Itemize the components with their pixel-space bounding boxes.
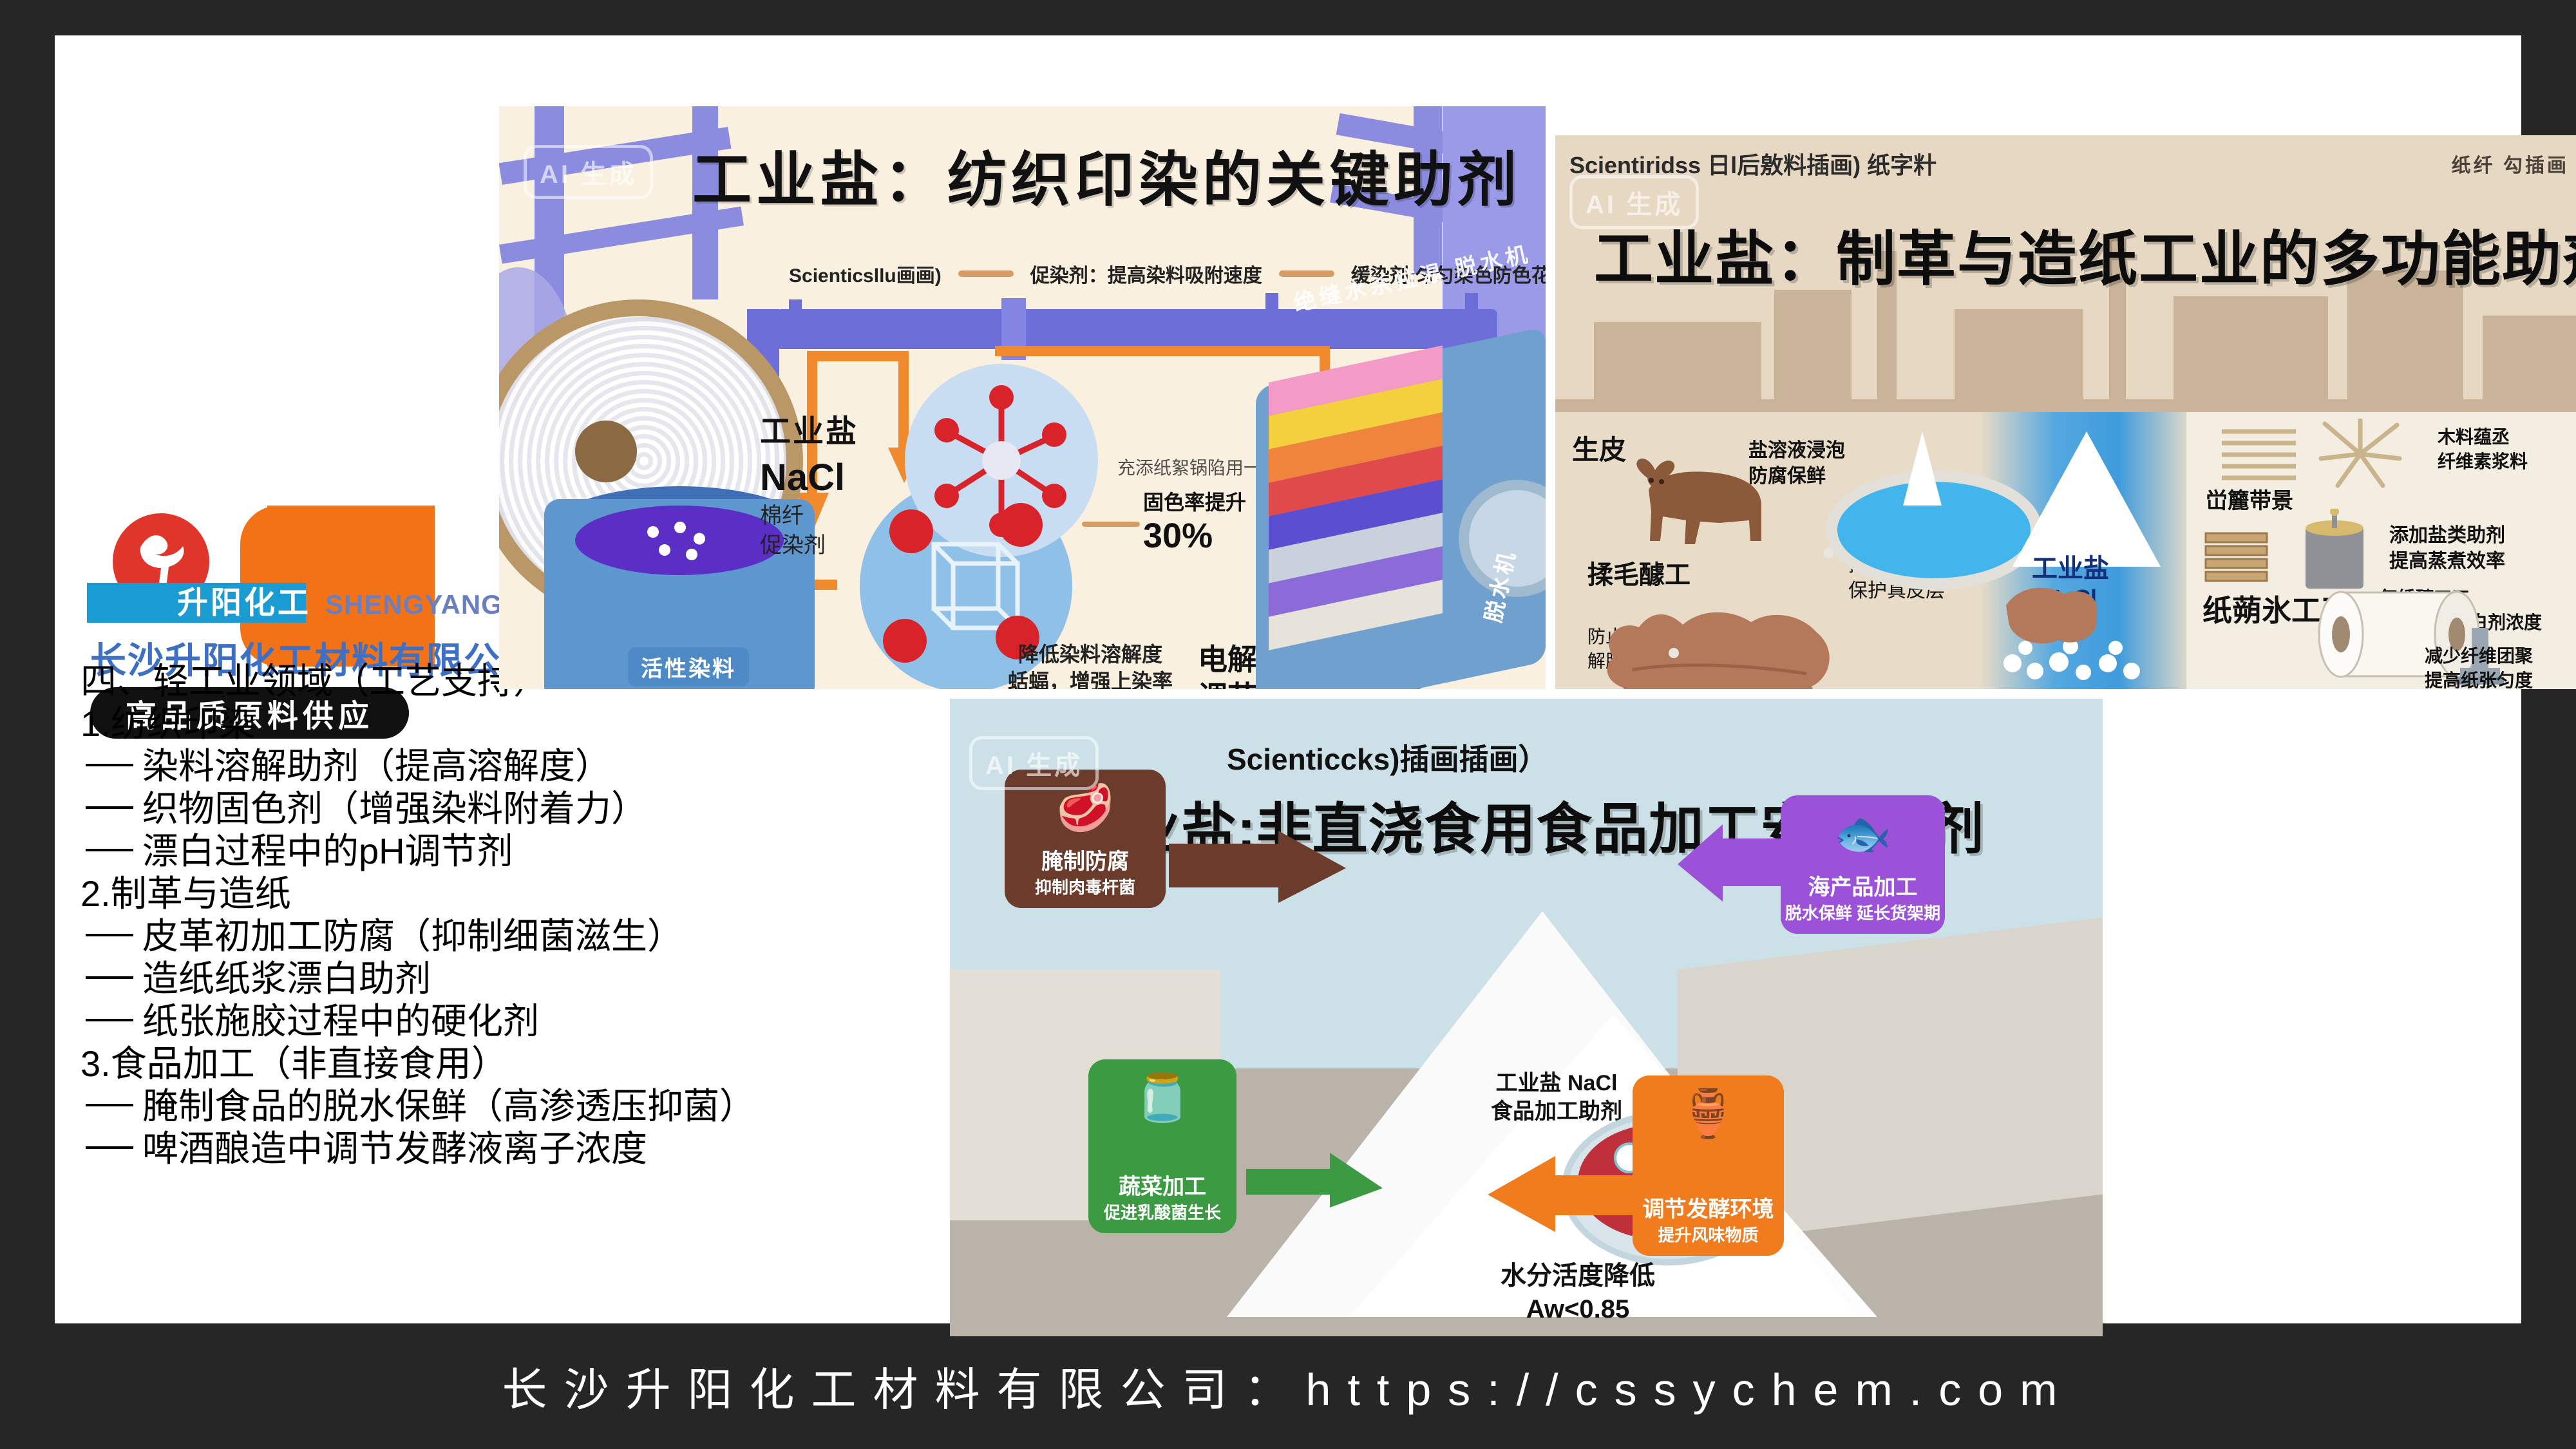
outline-item: 腌制食品的脱水保鲜（高渗透压抑菌） <box>80 1085 918 1128</box>
wood-chips-icon <box>2199 522 2277 586</box>
hotspot-dot-icon <box>1823 547 1834 559</box>
chip-sublabel: 抑制肉毒杆菌 <box>1035 877 1135 898</box>
pipe-leg <box>789 299 802 324</box>
pot-icon: 🏺 <box>1680 1091 1738 1137</box>
panel-leather-credit-right: 纸纤 勾插画 <box>2452 149 2569 178</box>
dash-icon <box>86 1104 133 1106</box>
dash-icon <box>86 1019 133 1021</box>
arrow-fermentation-to-salt-icon <box>1484 1130 1652 1253</box>
outline-list: 四、轻工业领域（工艺支持） 1.纺织印染 染料溶解助剂（提高溶解度） 织物固色剂… <box>80 660 918 1170</box>
dash-icon <box>86 764 133 766</box>
outline-item: 织物固色剂（增强染料附着力） <box>80 788 918 830</box>
ai-generated-badge: AI 生成 <box>969 736 1099 790</box>
salt-callout-cn: 工业盐 <box>760 406 858 451</box>
arrow-meat-to-salt-icon <box>1162 831 1356 940</box>
dissolution-callout: 降低染料溶解度 蛞蝠，增强上染率 <box>1008 641 1173 689</box>
logo-graphic: 升阳化工 SHENGYANG 长沙升阳化工材料有限公司 <box>74 506 435 676</box>
chip-label: 调节发酵环境 <box>1643 1197 1774 1222</box>
dyed-fabric-stack <box>1269 345 1443 689</box>
cellulose-fiber-icon <box>2318 419 2402 489</box>
outline-item: 染料溶解助剂（提高溶解度） <box>80 745 918 788</box>
salt-callout: 工业盐 NaCl 棉纤 促染剂 <box>760 406 858 558</box>
water-activity-label: 水分活度降低 Aw<0.85 <box>1501 1259 1655 1326</box>
page-root: 升阳化工 SHENGYANG 长沙升阳化工材料有限公司 高品质原料供应 四、轻工… <box>0 0 2576 1449</box>
dash-icon <box>86 1146 133 1149</box>
outline-section-1-title: 1.纺织印染 <box>80 703 918 745</box>
chip-label: 蔬菜加工 <box>1119 1174 1206 1200</box>
outline-section-3-title: 3.食品加工（非直接食用） <box>80 1043 918 1085</box>
chip-curing-preservation: 🥩 腌制防腐 抑制肉毒杆菌 <box>1005 770 1166 908</box>
pipe-leg <box>1265 293 1278 324</box>
hotspot-dot-icon <box>1668 647 1680 659</box>
chip-sublabel: 脱水保鲜 延长货架期 <box>1785 903 1940 923</box>
callout-leader-line <box>1082 522 1140 527</box>
outline-item: 纸张施胶过程中的硬化剂 <box>80 1000 918 1043</box>
flow-arrow-shaft <box>995 346 1330 356</box>
salt-callout-sub1: 棉纤 <box>760 503 858 529</box>
salt-callout-sub2: 促染剂 <box>760 533 858 558</box>
chip-fermentation: 🏺 调节发酵环境 提升风味物质 <box>1633 1075 1784 1256</box>
fixation-value: 30% <box>1143 516 1246 556</box>
panel-leather-title: 工业盐：制革与造纸工业的多功能助剂 <box>1594 211 2576 297</box>
chip-sublabel: 促进乳酸菌生长 <box>1104 1202 1221 1223</box>
fixation-label: 固色率提升 <box>1143 486 1246 516</box>
salt-pour-icon <box>1890 431 1955 509</box>
panel-textile-dyeing: AI 生成 工业盐：纺织印染的关键助剂 Scienticsllu画画) 促染剂：… <box>499 106 1546 689</box>
chip-sublabel: 提升风味物质 <box>1658 1225 1758 1245</box>
ai-generated-badge: AI 生成 <box>1569 175 1699 229</box>
legend-item-1: 促染剂：提高染料吸附速度 <box>1030 260 1262 288</box>
jar-icon: 🫙 <box>1133 1075 1191 1121</box>
salt-callout-formula: NaCl <box>760 456 858 499</box>
outline-item: 啤酒酿造中调节发酵液离子浓度 <box>80 1128 918 1170</box>
reactive-dye-tag: 活性染料 <box>628 647 749 687</box>
pipe-leg <box>1465 293 1478 324</box>
chip-label: 海产品加工 <box>1808 875 1918 900</box>
ai-generated-badge: AI 生成 <box>524 145 653 199</box>
chip-label: 腌制防腐 <box>1041 849 1129 875</box>
steak-icon: 🥩 <box>1056 785 1114 831</box>
panel-food-credit: Scienticcks)插画插画） <box>1227 736 1548 779</box>
panel-textile-credit: Scienticsllu画画) <box>789 260 942 288</box>
outline-item: 漂白过程中的pH调节剂 <box>80 830 918 873</box>
legend-line-icon <box>958 270 1014 277</box>
salt-grains <box>638 518 715 563</box>
arrow-vegetable-to-salt-icon <box>1240 1124 1388 1246</box>
cow-icon <box>1623 444 1784 567</box>
wood-pulp-icon <box>2219 419 2302 489</box>
dash-icon <box>86 849 133 851</box>
dash-icon <box>86 934 133 936</box>
label-wood-pulp: 木料蕴丞 纤维素浆料 <box>2438 425 2528 474</box>
logo-cn-text: 升阳化工 <box>177 587 311 620</box>
content-card: 升阳化工 SHENGYANG 长沙升阳化工材料有限公司 高品质原料供应 四、轻工… <box>55 35 2521 1323</box>
fabric-roll-core <box>575 421 637 482</box>
dash-icon <box>86 976 133 979</box>
label-fiber-uniformity: 减少纤维团聚 提高纸张匀度 <box>2425 644 2533 689</box>
fixation-pretext: 充添纸絮锅陷用一 <box>1117 454 1262 480</box>
panel-leather-paper: Scientiridss 日l后敫料插画) 纸字籵 纸纤 勾插画 AI 生成 工… <box>1555 135 2576 689</box>
fish-icon: 🐟 <box>1834 811 1892 857</box>
legend-line-icon <box>1279 270 1334 277</box>
panel-food-processing: AI 生成 Scienticcks)插画插画） 工业盐:非直浇食用食品加工安全加… <box>950 699 2103 1336</box>
label-rawhide: 生皮 <box>1572 428 1626 468</box>
chip-seafood-processing: 🐟 海产品加工 脱水保鲜 延长货架期 <box>1781 795 1945 934</box>
logo-en-text: SHENGYANG <box>325 589 503 620</box>
outline-item: 造纸纸浆漂白助剂 <box>80 958 918 1000</box>
cow-hide-icon <box>1594 580 1845 689</box>
footer-bar: 长沙升阳化工材料有限公司：https://cssychem.com <box>0 1323 2576 1449</box>
label-pulp-scene: 峃籭带景 <box>2206 483 2293 515</box>
panel-textile-title: 工业盐：纺织印染的关键助剂 <box>692 132 1521 218</box>
outline-item: 皮革初加工防腐（抑制细菌滋生） <box>80 915 918 958</box>
flow-arrow-shaft <box>807 351 904 361</box>
food-salt-label: 工业盐 NaCl 食品加工助剂 <box>1491 1069 1622 1126</box>
fixation-callout: 固色率提升 30% <box>1143 486 1246 556</box>
dash-icon <box>86 806 133 809</box>
chip-vegetable-processing: 🫙 蔬菜加工 促进乳酸菌生长 <box>1088 1059 1236 1233</box>
label-salt-additive: 添加盐类助剂 提高蒸煮效率 <box>2389 523 2505 574</box>
outline-section-2-title: 2.制革与造纸 <box>80 873 918 915</box>
footer-text: 长沙升阳化工材料有限公司：https://cssychem.com <box>502 1354 2074 1419</box>
leather-sample-icon <box>2000 580 2103 650</box>
pipe-horizontal <box>776 309 1497 349</box>
